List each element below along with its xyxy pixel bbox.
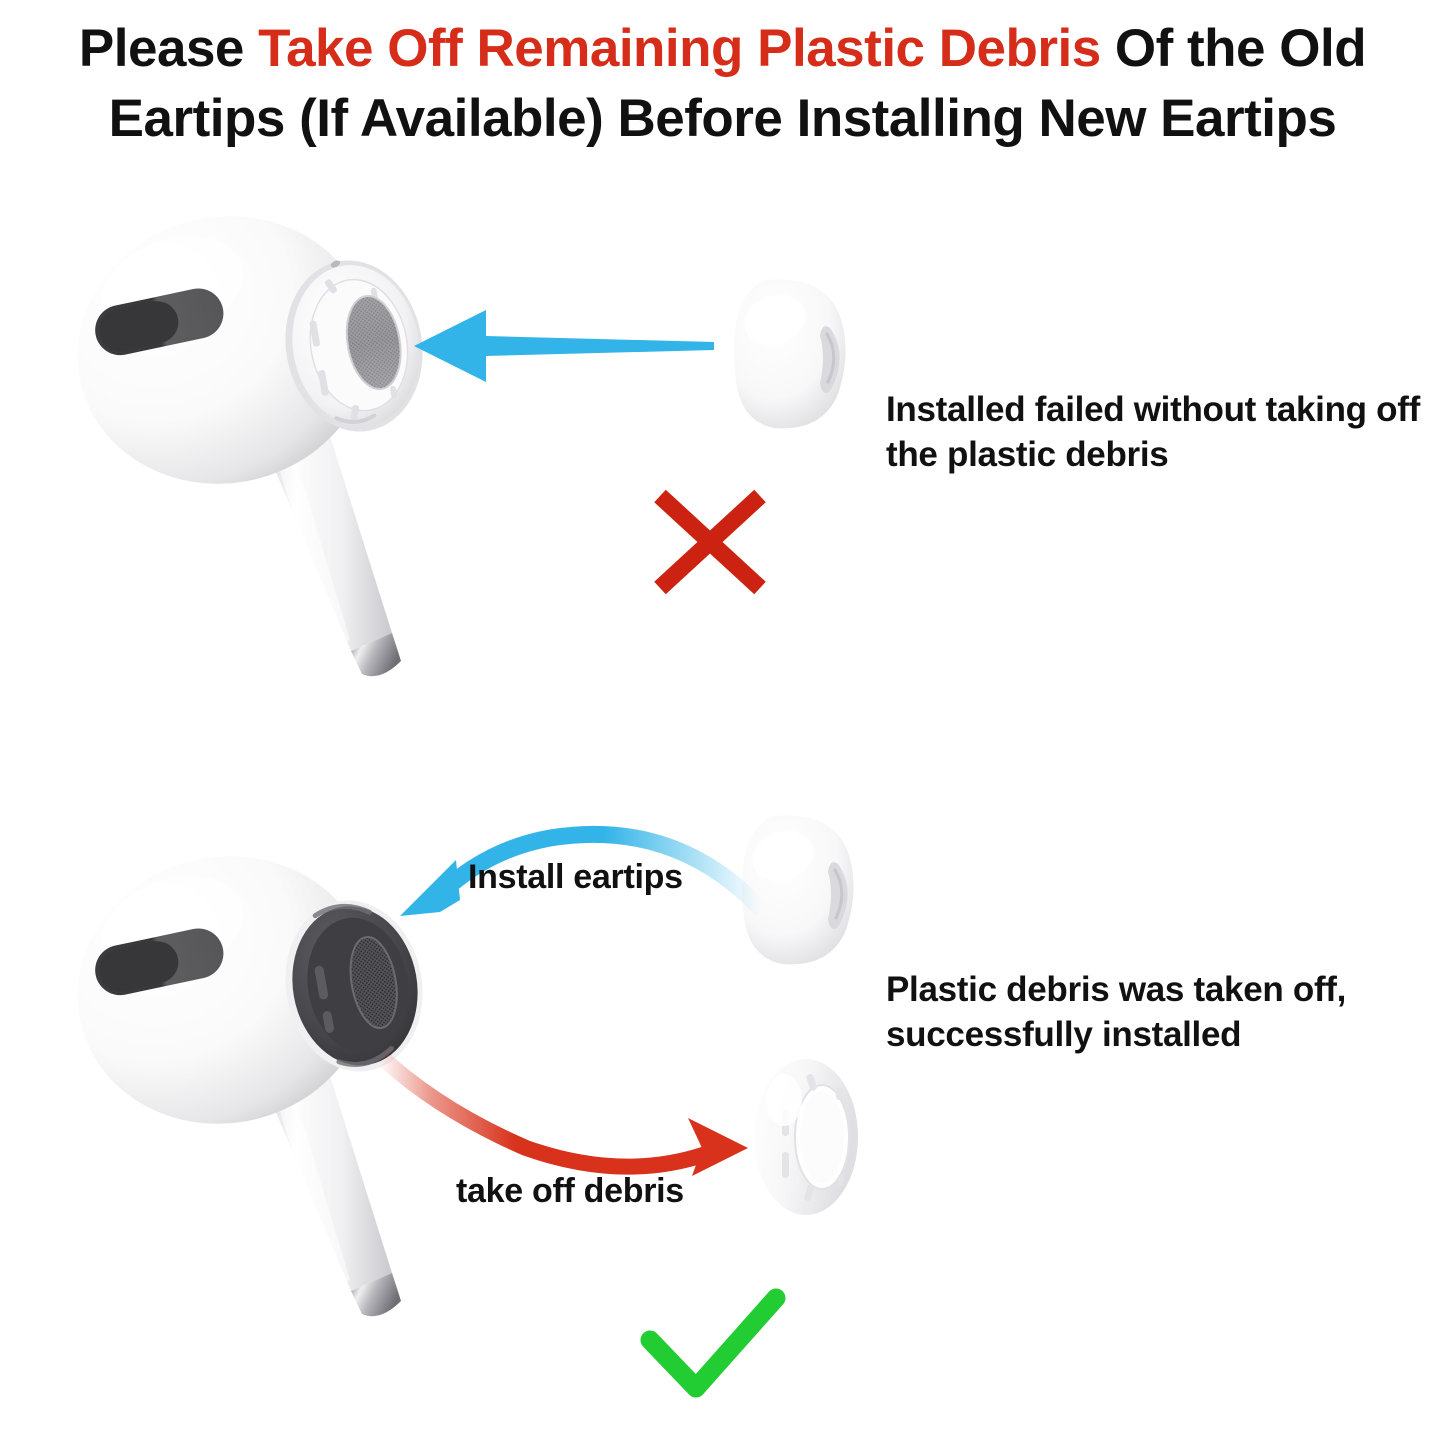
title-highlight: Take Off Remaining Plastic Debris (258, 19, 1101, 78)
success-caption: Plastic debris was taken off, successful… (886, 968, 1431, 1058)
install-eartips-label: Install eartips (468, 858, 683, 897)
page-title: Please Take Off Remaining Plastic Debris… (40, 14, 1405, 155)
title-part-1: Please (79, 19, 258, 78)
cross-mark-icon (652, 492, 768, 600)
take-off-debris-label: take off debris (456, 1172, 684, 1211)
plastic-debris-ring (744, 1052, 874, 1222)
earbud-with-debris (62, 196, 482, 676)
instruction-graphic: Please Take Off Remaining Plastic Debris… (0, 0, 1445, 1445)
curved-right-arrow-icon (372, 1036, 772, 1181)
fail-caption: Installed failed without taking off the … (886, 388, 1431, 478)
silicone-eartip-loose (728, 272, 868, 437)
check-mark-icon (644, 1292, 784, 1402)
earbud-stem (267, 436, 401, 676)
left-arrow-icon (414, 296, 714, 396)
